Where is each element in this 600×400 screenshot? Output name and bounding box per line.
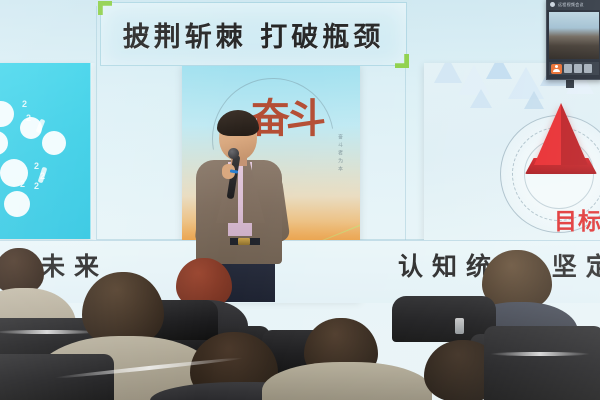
main-title: 披荆斩棘 打破瓶颈 <box>101 3 406 65</box>
video-conference-screen[interactable]: 远程视频会议 <box>546 0 600 80</box>
poster-center-vertical-caption: 奋斗者为本 <box>332 134 344 174</box>
poster-right: 目标 <box>424 63 600 240</box>
participants-icon[interactable] <box>551 64 562 74</box>
microphone-icon[interactable] <box>564 64 572 73</box>
poster-right-headline: 目标 <box>554 202 600 236</box>
poster-left: 2 2 2 2 2 2 <box>0 63 91 239</box>
chair-highlight <box>490 352 590 356</box>
poster-center-calligraphy: 奋斗 <box>250 86 322 144</box>
wall-line <box>96 6 97 239</box>
record-indicator-icon <box>550 2 555 7</box>
title-banner: 披荆斩棘 打破瓶颈 <box>100 2 407 66</box>
monitor-header-label: 远程视频会议 <box>558 2 584 8</box>
water-bottle <box>455 318 464 334</box>
presenter-belt-buckle <box>238 238 250 245</box>
red-pyramid-shade <box>561 103 588 165</box>
monitor-toolbar[interactable] <box>549 62 599 75</box>
poster-left-edge <box>90 63 96 239</box>
monitor-video-feed <box>549 12 599 59</box>
share-screen-icon[interactable] <box>584 64 592 73</box>
conference-photo: 2 2 2 2 2 2 奋斗 奋斗者为本 目标 <box>0 0 600 400</box>
camera-icon[interactable] <box>574 64 582 73</box>
chair <box>484 326 600 400</box>
chair-highlight <box>0 330 100 334</box>
microphone-capsule <box>228 148 239 159</box>
monitor-titlebar: 远程视频会议 <box>547 0 600 10</box>
